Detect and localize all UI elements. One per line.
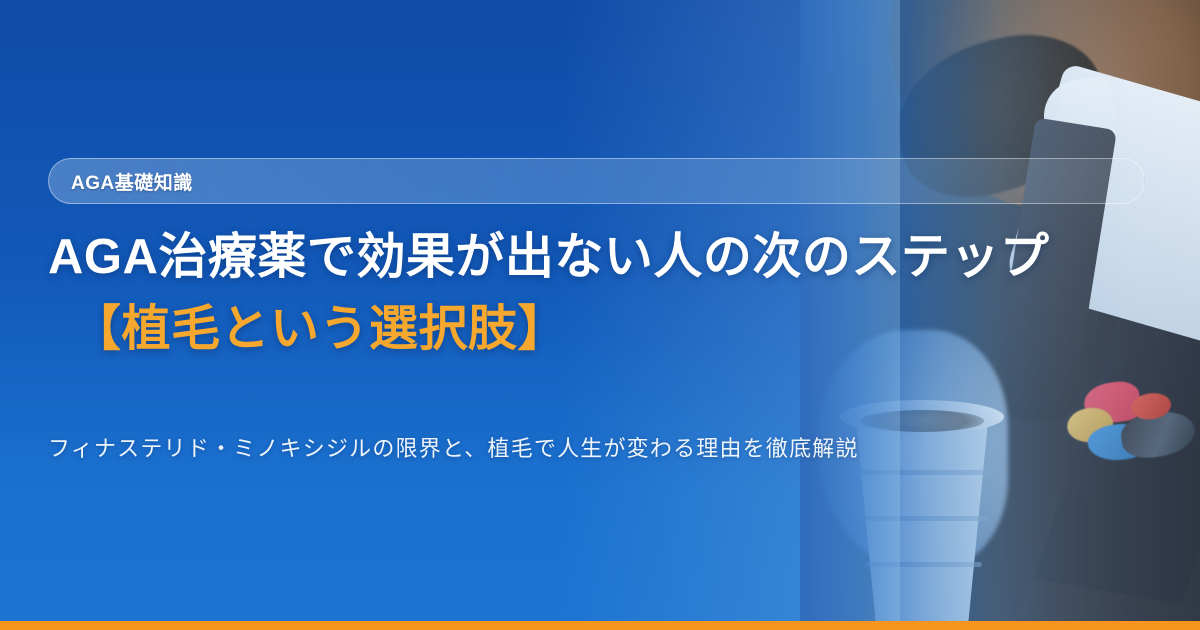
title-line-1: AGA治療薬で効果が出ない人の次のステップ <box>48 228 1152 288</box>
category-badge: AGA基礎知識 <box>48 158 1145 204</box>
page-title: AGA治療薬で効果が出ない人の次のステップ 【植毛という選択肢】 <box>48 228 1152 360</box>
bottom-accent-bar <box>0 621 1200 630</box>
title-line-2-highlight: 【植毛という選択肢】 <box>72 300 1152 360</box>
content-layer: AGA基礎知識 AGA治療薬で効果が出ない人の次のステップ 【植毛という選択肢】… <box>0 0 1200 630</box>
eyecatch-banner: AGA基礎知識 AGA治療薬で効果が出ない人の次のステップ 【植毛という選択肢】… <box>0 0 1200 630</box>
category-badge-label: AGA基礎知識 <box>71 168 193 195</box>
subtitle-text: フィナステリド・ミノキシジルの限界と、植毛で人生が変わる理由を徹底解説 <box>48 432 859 465</box>
